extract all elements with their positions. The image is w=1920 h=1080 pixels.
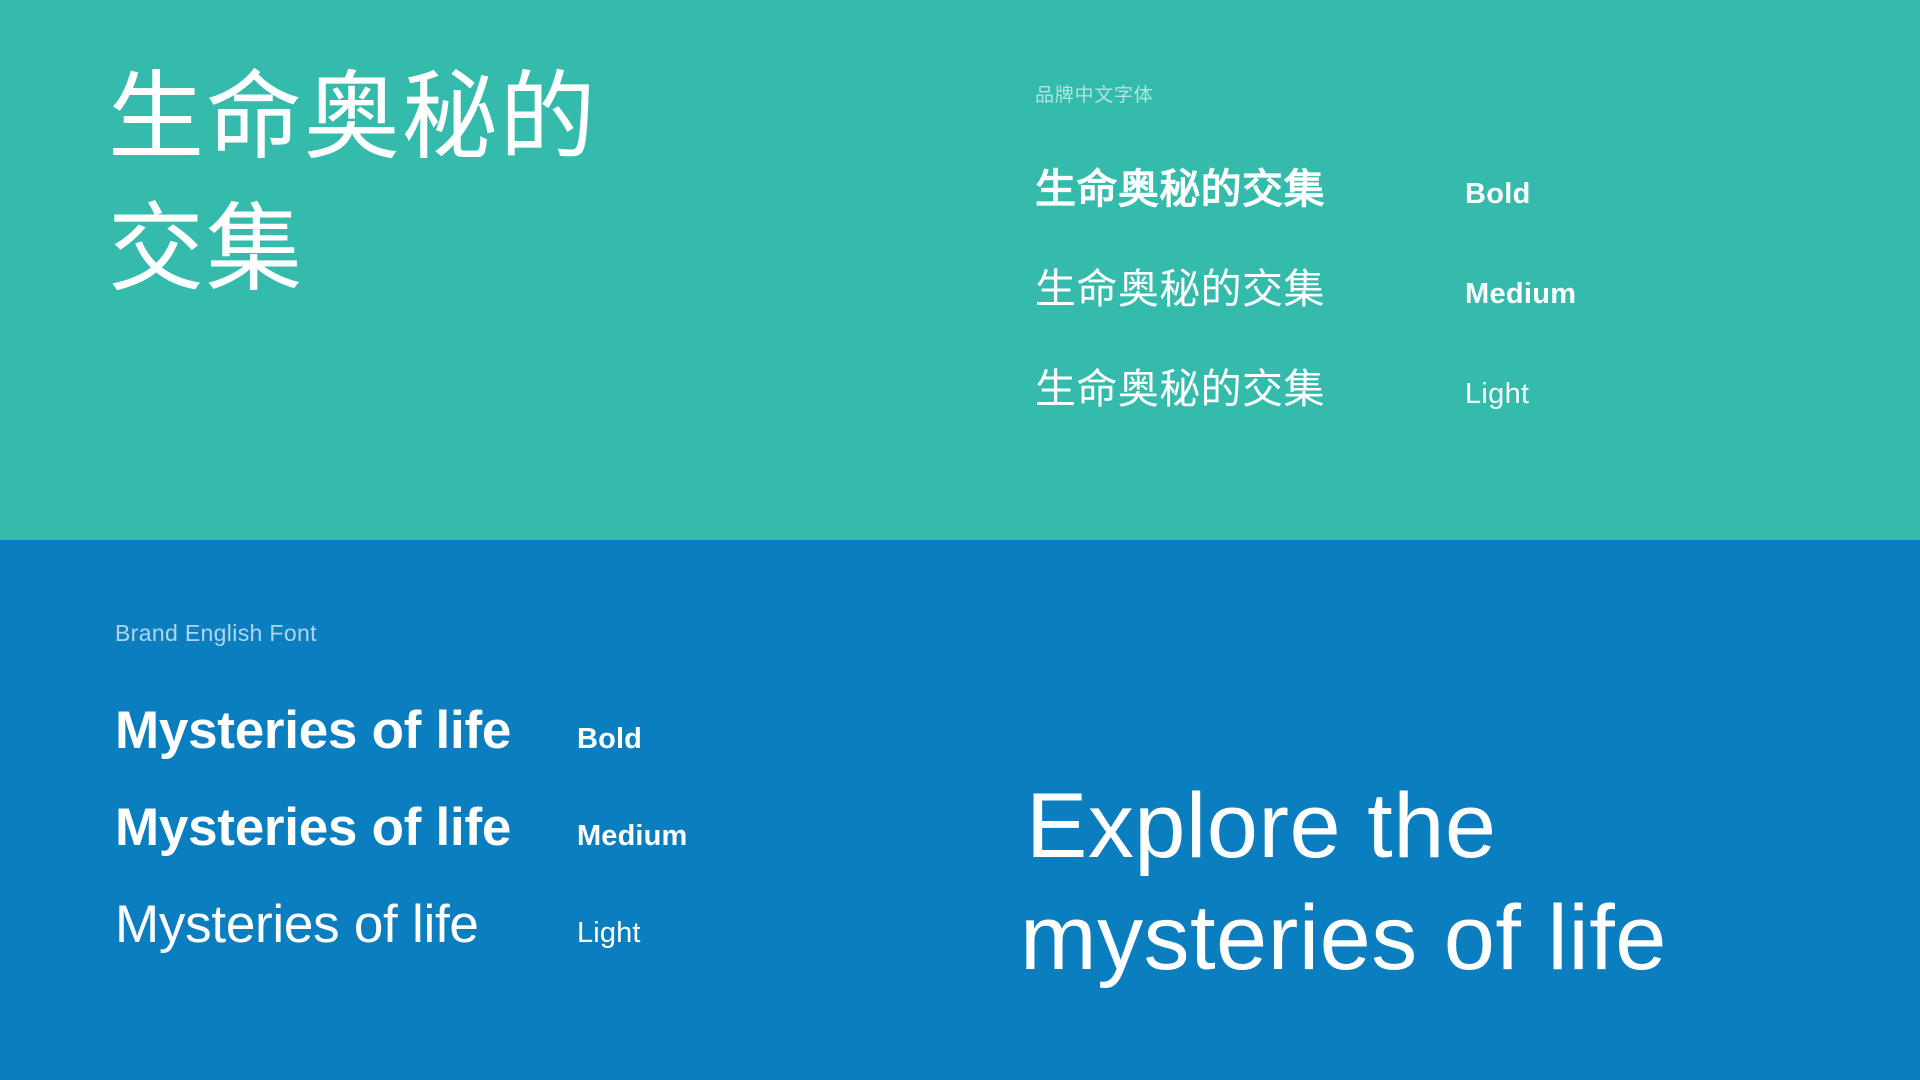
english-display-line-2: mysteries of life [1020, 882, 1880, 994]
english-sample-medium: Mysteries of life [115, 797, 577, 858]
english-display-headline: Explore the mysteries of life [1020, 770, 1880, 994]
chinese-weight-label-bold: Bold [1465, 178, 1531, 211]
english-weight-row-bold: Mysteries of life Bold [115, 700, 875, 761]
english-sample-bold: Mysteries of life [115, 700, 577, 761]
chinese-weight-row-medium: 生命奥秘的交集 Medium [1035, 255, 1855, 315]
chinese-weight-label-light: Light [1465, 378, 1529, 411]
english-weight-label-bold: Bold [577, 723, 642, 756]
english-display-line-1: Explore the [1020, 770, 1880, 882]
chinese-weight-row-light: 生命奥秘的交集 Light [1035, 355, 1855, 415]
chinese-sample-medium: 生命奥秘的交集 [1035, 255, 1465, 315]
chinese-weight-label-medium: Medium [1465, 278, 1576, 311]
chinese-display-line-2: 交集 [108, 184, 748, 316]
english-weights-panel: Brand English Font Mysteries of life Bol… [115, 620, 875, 955]
chinese-display-headline: 生命奥秘的 交集 [108, 52, 748, 317]
english-weight-label-medium: Medium [577, 820, 687, 853]
chinese-sample-bold: 生命奥秘的交集 [1035, 155, 1465, 215]
english-weight-row-light: Mysteries of life Light [115, 894, 875, 955]
chinese-sample-light: 生命奥秘的交集 [1035, 355, 1465, 415]
chinese-display-line-1: 生命奥秘的 [108, 52, 748, 184]
english-panel-label: Brand English Font [115, 620, 875, 647]
english-weight-row-medium: Mysteries of life Medium [115, 797, 875, 858]
brand-typography-board: 生命奥秘的 交集 品牌中文字体 生命奥秘的交集 Bold 生命奥秘的交集 Med… [0, 0, 1920, 1080]
chinese-panel-label: 品牌中文字体 [1035, 80, 1855, 107]
chinese-weights-panel: 品牌中文字体 生命奥秘的交集 Bold 生命奥秘的交集 Medium 生命奥秘的… [1035, 80, 1855, 415]
english-sample-light: Mysteries of life [115, 894, 577, 955]
chinese-weight-row-bold: 生命奥秘的交集 Bold [1035, 155, 1855, 215]
english-weight-label-light: Light [577, 917, 641, 950]
chinese-typography-section: 生命奥秘的 交集 品牌中文字体 生命奥秘的交集 Bold 生命奥秘的交集 Med… [0, 0, 1920, 540]
